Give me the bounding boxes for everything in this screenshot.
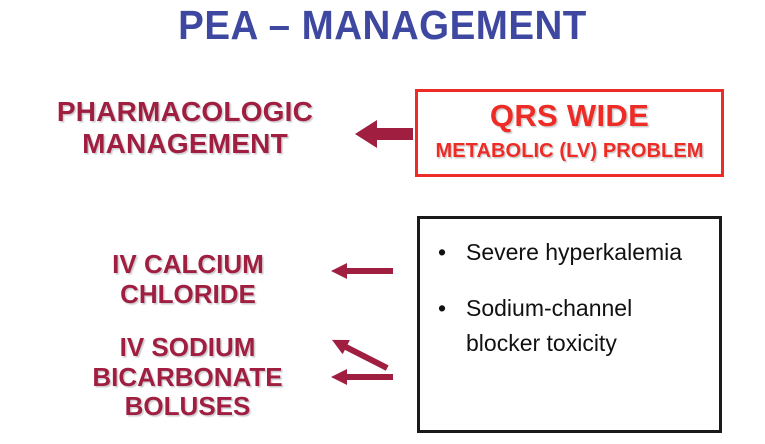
qrs-wide-box: QRS WIDE METABOLIC (LV) PROBLEM [415, 89, 724, 177]
page-title: PEA – MANAGEMENT [23, 2, 742, 49]
bullet-icon: • [438, 291, 446, 327]
slide-canvas: PEA – MANAGEMENT PHARMACOLOGIC MANAGEMEN… [0, 0, 765, 444]
list-item-label: Severe hyperkalemia [466, 239, 682, 265]
pharmacologic-management-heading: PHARMACOLOGIC MANAGEMENT [20, 96, 350, 160]
metabolic-lv-problem-subheading: METABOLIC (LV) PROBLEM [418, 140, 721, 163]
bullet-icon: • [438, 235, 446, 271]
arrow-left-icon-causes-to-calcium-chloride [331, 262, 393, 280]
list-item-label: Sodium-channel blocker toxicity [466, 295, 632, 357]
treatment-iv-sodium-bicarbonate-boluses: IV SODIUM BICARBONATE BOLUSES [30, 333, 345, 422]
treatment-iv-calcium-chloride: IV CALCIUM CHLORIDE [48, 250, 328, 309]
causes-box: • Severe hyperkalemia • Sodium-channel b… [417, 216, 722, 433]
arrow-left-icon-qrs-to-pharmacologic [355, 117, 413, 151]
qrs-wide-heading: QRS WIDE [418, 98, 721, 134]
list-item: • Sodium-channel blocker toxicity [434, 291, 709, 362]
causes-list: • Severe hyperkalemia • Sodium-channel b… [420, 219, 719, 362]
arrow-down-left-icon-causes-to-bicarbonate [331, 310, 397, 352]
arrow-left-icon-causes-to-bicarbonate [331, 368, 393, 386]
list-item: • Severe hyperkalemia [434, 235, 709, 271]
